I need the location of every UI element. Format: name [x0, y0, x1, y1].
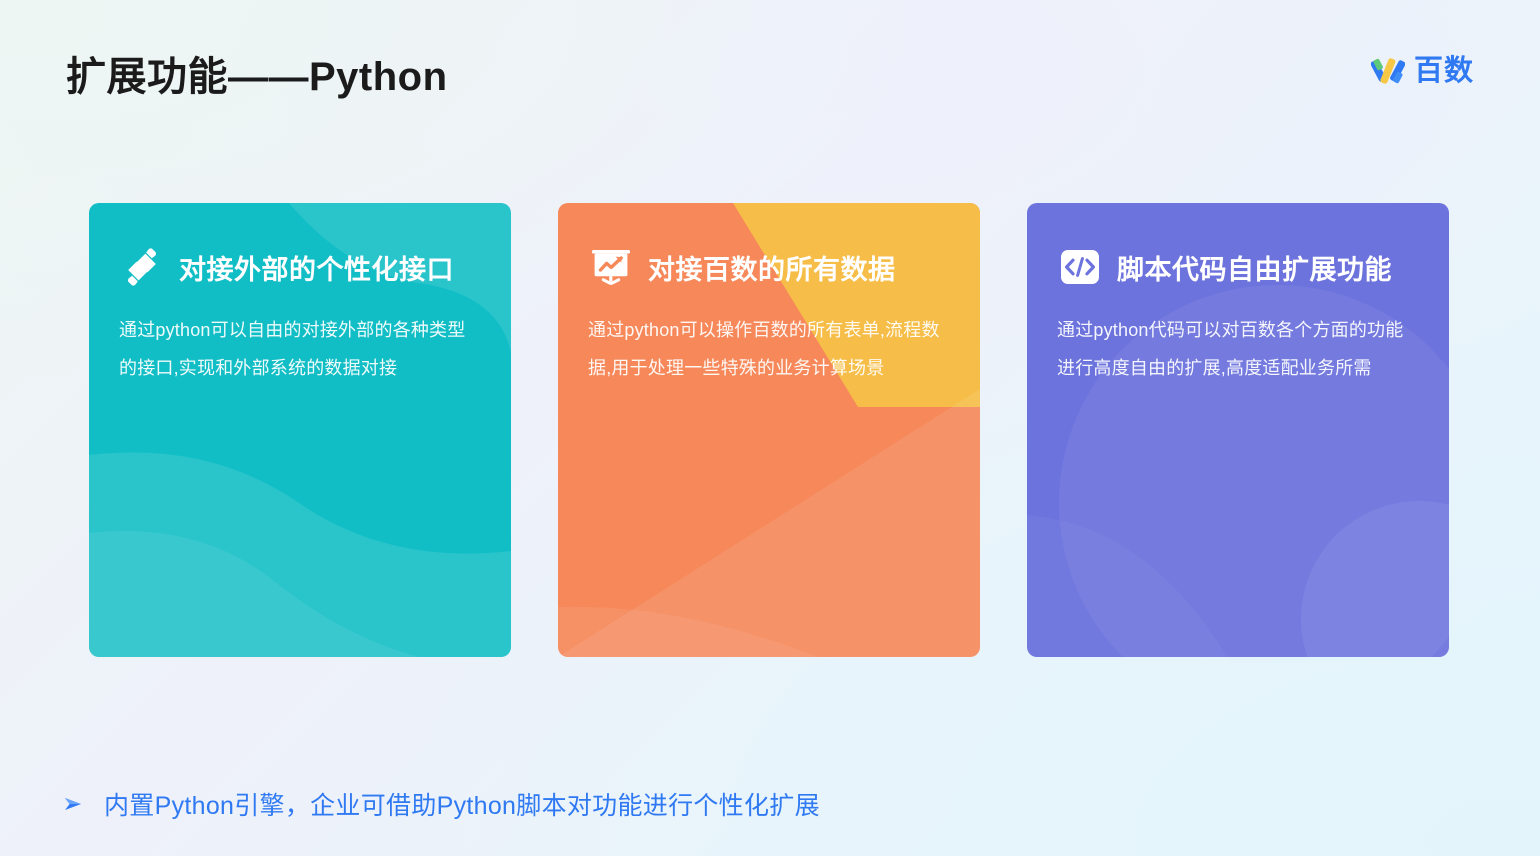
- card-header: 脚本代码自由扩展功能: [1057, 243, 1419, 291]
- slide-root: 扩展功能——Python 百数: [0, 0, 1540, 856]
- brand-logo: 百数: [1371, 54, 1474, 88]
- feature-card-list: 对接外部的个性化接口 通过python可以自由的对接外部的各种类型的接口,实现和…: [89, 203, 1451, 657]
- card-description: 通过python代码可以对百数各个方面的功能进行高度自由的扩展,高度适配业务所需: [1057, 311, 1419, 387]
- code-brackets-icon: [1057, 244, 1103, 290]
- plug-connector-icon: [119, 244, 165, 290]
- presentation-chart-icon: [588, 244, 634, 290]
- feature-card-script[interactable]: 脚本代码自由扩展功能 通过python代码可以对百数各个方面的功能进行高度自由的…: [1027, 203, 1449, 657]
- footer-note: 内置Python引擎，企业可借助Python脚本对功能进行个性化扩展: [62, 786, 820, 822]
- card-title: 对接外部的个性化接口: [179, 248, 454, 287]
- card-content: 对接外部的个性化接口 通过python可以自由的对接外部的各种类型的接口,实现和…: [89, 203, 511, 387]
- card-content: 对接百数的所有数据 通过python可以操作百数的所有表单,流程数据,用于处理一…: [558, 203, 980, 387]
- feature-card-data[interactable]: 对接百数的所有数据 通过python可以操作百数的所有表单,流程数据,用于处理一…: [558, 203, 980, 657]
- page-title: 扩展功能——Python: [66, 44, 448, 102]
- card-content: 脚本代码自由扩展功能 通过python代码可以对百数各个方面的功能进行高度自由的…: [1027, 203, 1449, 387]
- card-header: 对接外部的个性化接口: [119, 243, 481, 291]
- card-description: 通过python可以操作百数的所有表单,流程数据,用于处理一些特殊的业务计算场景: [588, 311, 950, 387]
- card-description: 通过python可以自由的对接外部的各种类型的接口,实现和外部系统的数据对接: [119, 311, 481, 387]
- footer-text: 内置Python引擎，企业可借助Python脚本对功能进行个性化扩展: [104, 786, 820, 822]
- card-title: 对接百数的所有数据: [648, 248, 896, 287]
- brand-name: 百数: [1414, 57, 1474, 86]
- feature-card-interface[interactable]: 对接外部的个性化接口 通过python可以自由的对接外部的各种类型的接口,实现和…: [89, 203, 511, 657]
- x-logo-icon: [1371, 54, 1405, 88]
- card-header: 对接百数的所有数据: [588, 243, 950, 291]
- card-title: 脚本代码自由扩展功能: [1117, 248, 1392, 287]
- arrow-bullet-icon: [62, 793, 84, 815]
